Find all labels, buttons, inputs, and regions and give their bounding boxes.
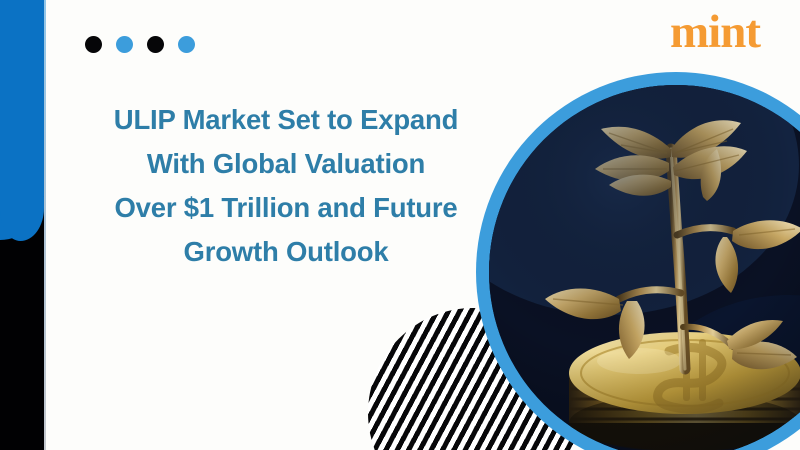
dot-2-icon	[116, 36, 133, 53]
dot-3-icon	[147, 36, 164, 53]
headline-line-1: ULIP Market Set to Expand	[56, 98, 516, 142]
headline: ULIP Market Set to Expand With Global Va…	[56, 98, 516, 274]
headline-line-4: Growth Outlook	[56, 230, 516, 274]
decorative-dot-row	[85, 36, 195, 53]
content-card: ULIP Market Set to Expand With Global Va…	[46, 0, 800, 450]
hero-image-circle	[476, 72, 800, 450]
headline-line-3: Over $1 Trillion and Future	[56, 186, 516, 230]
hero-photo	[489, 85, 800, 450]
plant-and-coins-illustration	[489, 85, 800, 450]
dot-1-icon	[85, 36, 102, 53]
left-blue-strip	[0, 0, 44, 240]
dot-4-icon	[178, 36, 195, 53]
poster-canvas: ULIP Market Set to Expand With Global Va…	[0, 0, 800, 450]
headline-line-2: With Global Valuation	[56, 142, 516, 186]
mint-logo[interactable]: mint	[670, 9, 760, 56]
